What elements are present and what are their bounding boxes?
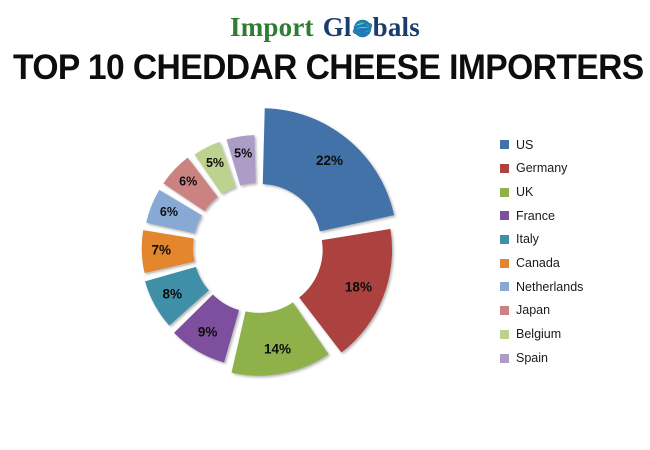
legend-label: Spain	[516, 352, 548, 365]
legend-item[interactable]: Netherlands	[500, 275, 645, 299]
legend-swatch	[500, 354, 509, 363]
donut-slice-label: 6%	[160, 205, 178, 219]
legend-item[interactable]: US	[500, 133, 645, 157]
legend-label: Canada	[516, 257, 560, 270]
legend-swatch	[500, 188, 509, 197]
donut-slice-label: 5%	[206, 156, 224, 170]
legend-swatch	[500, 235, 509, 244]
legend-label: France	[516, 210, 555, 223]
donut-slice-label: 5%	[234, 147, 252, 161]
legend-swatch	[500, 282, 509, 291]
legend-swatch	[500, 330, 509, 339]
donut-slice-label: 7%	[151, 243, 171, 258]
donut-slice-label: 14%	[264, 342, 291, 357]
legend-item[interactable]: Germany	[500, 157, 645, 181]
legend-item[interactable]: France	[500, 204, 645, 228]
legend-item[interactable]: Spain	[500, 346, 645, 370]
brand-logo: Import Gl bals	[0, 8, 650, 46]
legend-swatch	[500, 211, 509, 220]
legend-item[interactable]: Italy	[500, 228, 645, 252]
donut-slice-label: 6%	[179, 175, 197, 189]
legend-label: Belgium	[516, 328, 561, 341]
legend-label: Germany	[516, 162, 567, 175]
donut-slices	[142, 108, 394, 376]
donut-chart: 22%18%14%9%8%7%6%6%5%5%	[95, 92, 425, 412]
legend-item[interactable]: Japan	[500, 299, 645, 323]
legend-label: UK	[516, 186, 533, 199]
logo-text-globals: Gl bals	[323, 12, 420, 43]
legend-label: Netherlands	[516, 281, 583, 294]
legend-item[interactable]: Belgium	[500, 323, 645, 347]
globe-icon	[352, 15, 373, 36]
legend-item[interactable]: Canada	[500, 251, 645, 275]
legend-label: Japan	[516, 304, 550, 317]
donut-slice-label: 22%	[316, 153, 343, 168]
donut-slice[interactable]	[263, 108, 394, 231]
donut-slice-label: 9%	[198, 325, 218, 340]
legend-label: US	[516, 139, 533, 152]
legend-swatch	[500, 259, 509, 268]
logo-text-globals-pre: Gl	[323, 12, 352, 43]
chart-legend: USGermanyUKFranceItalyCanadaNetherlandsJ…	[500, 133, 645, 370]
logo-text-import: Import	[230, 12, 314, 43]
donut-slice-label: 8%	[163, 287, 183, 302]
donut-slice-label: 18%	[345, 279, 372, 294]
legend-swatch	[500, 306, 509, 315]
logo-text-globals-post: bals	[373, 12, 420, 43]
legend-label: Italy	[516, 233, 539, 246]
legend-item[interactable]: UK	[500, 180, 645, 204]
legend-swatch	[500, 164, 509, 173]
donut-chart-svg: 22%18%14%9%8%7%6%6%5%5%	[95, 92, 425, 412]
page-title: TOP 10 CHEDDAR CHEESE IMPORTERS	[13, 48, 637, 88]
legend-swatch	[500, 140, 509, 149]
